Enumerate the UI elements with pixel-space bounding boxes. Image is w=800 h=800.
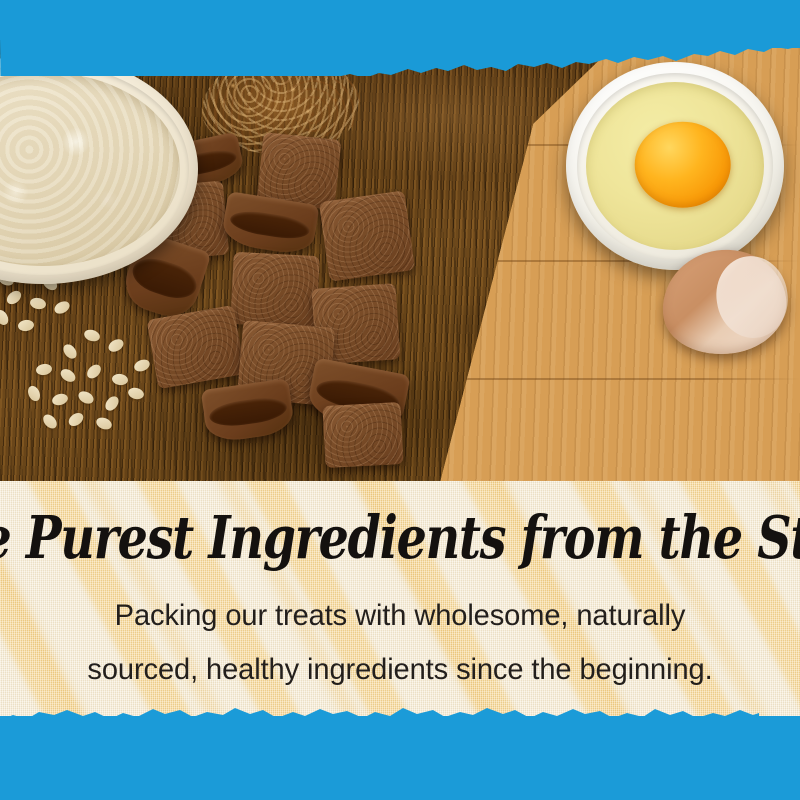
egg-white [586,82,764,250]
body-copy: Packing our treats with wholesome, natur… [26,589,775,696]
oat-flake [41,412,60,431]
body-copy-line-2: sourced, healthy ingredients since the b… [26,643,775,697]
body-copy-line-1: Packing our treats with wholesome, natur… [26,589,775,643]
oat-flake [52,299,71,316]
marketing-banner: The Purest Ingredients from the Start Pa… [0,0,800,800]
oat-flake [103,394,122,413]
ingredients-photo [0,0,800,500]
oat-flake [35,363,53,377]
egg-in-bowl [566,62,784,270]
treat-texture [322,402,403,468]
oat-flake [133,357,152,373]
oat-flake [76,389,95,406]
oat-flake [127,386,145,401]
treat-texture [319,190,415,281]
oat-flake [111,373,128,386]
oat-flake [58,366,77,384]
oat-flake [4,288,23,307]
treat-filling [228,207,312,242]
treat-cube [230,252,320,328]
oat-flake [26,384,43,403]
oat-flake [61,342,80,361]
oat-flake [51,392,69,407]
oat-flake [83,328,102,343]
oat-flake [0,308,11,327]
oat-flake [95,415,114,431]
treat-cube [322,402,403,468]
treat-cube [319,190,415,281]
oat-flake [84,362,103,381]
oat-flake [66,410,85,428]
rolled-oats-pile [22,330,182,440]
treat-texture [230,252,320,328]
egg-yolk [635,121,731,207]
treat-filling [208,395,288,429]
treat-filling [129,253,201,304]
bottom-blue-band [0,716,800,800]
treat-cube-half [201,378,296,444]
text-panel: The Purest Ingredients from the Start Pa… [0,481,800,722]
oat-flake [29,296,47,310]
oat-flake [106,337,125,355]
headline: The Purest Ingredients from the Start [0,509,800,568]
